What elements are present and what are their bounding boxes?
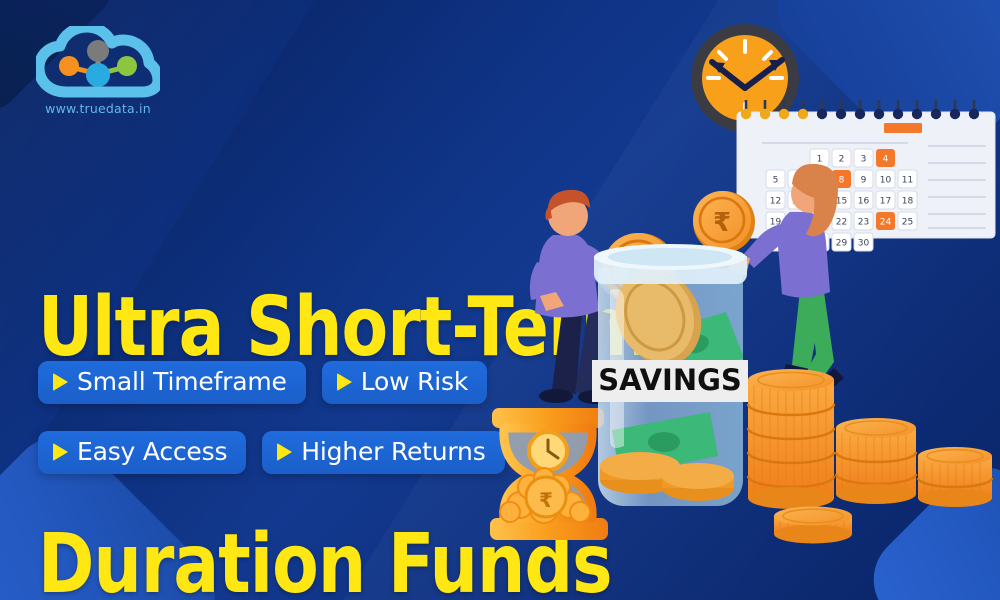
svg-text:₹: ₹ (539, 488, 553, 512)
svg-text:4: 4 (883, 155, 889, 165)
svg-text:11: 11 (902, 176, 913, 186)
play-triangle-icon (337, 373, 352, 391)
svg-text:30: 30 (858, 239, 870, 249)
svg-text:1: 1 (817, 155, 823, 165)
feature-label: Higher Returns (301, 439, 485, 465)
svg-text:29: 29 (836, 239, 848, 249)
play-triangle-icon (53, 373, 68, 391)
hourglass-icon: ₹ (490, 408, 608, 540)
coin-stacks (748, 369, 992, 544)
feature-pill-easy-access[interactable]: Easy Access (38, 431, 246, 474)
svg-text:23: 23 (858, 218, 869, 228)
svg-text:12: 12 (770, 197, 781, 207)
svg-text:25: 25 (902, 218, 913, 228)
feature-label: Small Timeframe (77, 369, 287, 395)
svg-text:17: 17 (880, 197, 891, 207)
cloud-network-logo-icon (36, 26, 160, 100)
illustration-svg: 1 2 3 4 5 6 7 8 9 10 11 12 13 14 15 (480, 0, 1000, 600)
feature-row-2: Easy Access Higher Returns (38, 431, 505, 474)
play-triangle-icon (53, 443, 68, 461)
rupee-coin-right: ₹ (693, 191, 755, 253)
svg-text:₹: ₹ (713, 208, 731, 238)
svg-text:5: 5 (773, 176, 779, 186)
play-triangle-icon (277, 443, 292, 461)
brand-logo[interactable]: www.truedata.in (28, 26, 168, 116)
svg-text:24: 24 (880, 218, 892, 228)
promo-banner: www.truedata.in Ultra Short-Term Duratio… (0, 0, 1000, 600)
svg-text:9: 9 (861, 176, 867, 186)
feature-pill-higher-returns[interactable]: Higher Returns (262, 431, 504, 474)
svg-text:8: 8 (839, 176, 845, 186)
savings-jar: SAVINGS (592, 244, 748, 506)
feature-label: Easy Access (77, 439, 227, 465)
jar-label-text: SAVINGS (598, 363, 742, 397)
feature-pill-low-risk[interactable]: Low Risk (322, 361, 487, 404)
svg-text:16: 16 (858, 197, 870, 207)
feature-label: Low Risk (361, 369, 468, 395)
svg-text:18: 18 (902, 197, 914, 207)
svg-text:2: 2 (839, 155, 845, 165)
svg-text:3: 3 (861, 155, 867, 165)
finance-illustration: 1 2 3 4 5 6 7 8 9 10 11 12 13 14 15 (480, 0, 1000, 600)
brand-url[interactable]: www.truedata.in (28, 101, 168, 116)
feature-pill-small-timeframe[interactable]: Small Timeframe (38, 361, 306, 404)
feature-row-1: Small Timeframe Low Risk (38, 361, 487, 404)
svg-text:10: 10 (880, 176, 892, 186)
svg-text:22: 22 (836, 218, 847, 228)
